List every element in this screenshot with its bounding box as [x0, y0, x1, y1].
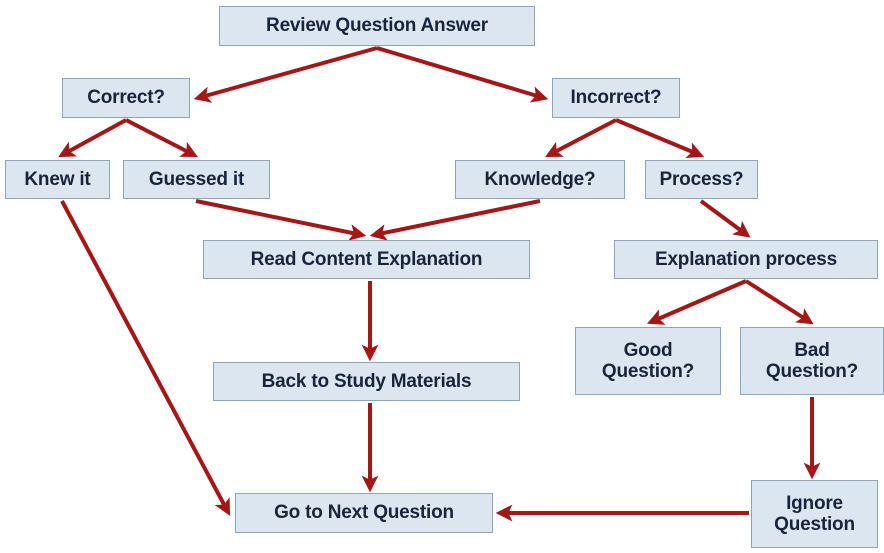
node-label: Read Content Explanation	[251, 249, 483, 270]
node-label: Review Question Answer	[266, 15, 488, 36]
node-label: Bad Question?	[766, 340, 858, 383]
node-explanation-process[interactable]: Explanation process	[614, 240, 878, 279]
edge-correct-to-knew	[62, 120, 126, 155]
node-label: Good Question?	[602, 340, 694, 383]
edge-guessed-to-readcontent	[196, 201, 362, 235]
node-label: Knew it	[24, 169, 90, 190]
node-guessed-it[interactable]: Guessed it	[123, 160, 270, 199]
edge-process-to-explproc	[701, 201, 747, 235]
node-label: Guessed it	[149, 169, 244, 190]
node-knowledge[interactable]: Knowledge?	[455, 160, 625, 199]
node-label: Knowledge?	[485, 169, 596, 190]
node-label: Ignore Question	[774, 493, 855, 536]
node-knew-it[interactable]: Knew it	[5, 160, 110, 199]
node-label: Correct?	[87, 87, 165, 108]
edge-explproc-to-badq	[746, 281, 810, 322]
edge-review-to-correct	[198, 48, 377, 98]
node-label: Go to Next Question	[274, 502, 454, 523]
node-review-question-answer[interactable]: Review Question Answer	[219, 6, 535, 46]
node-process[interactable]: Process?	[645, 160, 758, 199]
node-go-to-next-question[interactable]: Go to Next Question	[235, 493, 493, 533]
edge-correct-to-guessed	[126, 120, 194, 155]
node-label: Process?	[660, 169, 744, 190]
node-label: Explanation process	[655, 249, 837, 270]
node-correct[interactable]: Correct?	[62, 78, 190, 118]
node-bad-question[interactable]: Bad Question?	[740, 327, 884, 395]
node-read-content-explanation[interactable]: Read Content Explanation	[203, 240, 530, 279]
node-back-to-study-materials[interactable]: Back to Study Materials	[213, 362, 520, 401]
node-label: Back to Study Materials	[262, 371, 472, 392]
edge-review-to-incorrect	[377, 48, 544, 98]
edge-knowledge-to-readcontent	[374, 201, 540, 235]
node-label: Incorrect?	[571, 87, 662, 108]
node-good-question[interactable]: Good Question?	[575, 327, 721, 395]
flowchart-canvas: Review Question Answer Correct? Incorrec…	[0, 0, 884, 553]
edge-incorrect-to-knowledge	[549, 120, 616, 155]
node-incorrect[interactable]: Incorrect?	[552, 78, 680, 118]
edge-explproc-to-goodq	[651, 281, 746, 322]
node-ignore-question[interactable]: Ignore Question	[751, 480, 878, 548]
edge-incorrect-to-process	[616, 120, 700, 155]
